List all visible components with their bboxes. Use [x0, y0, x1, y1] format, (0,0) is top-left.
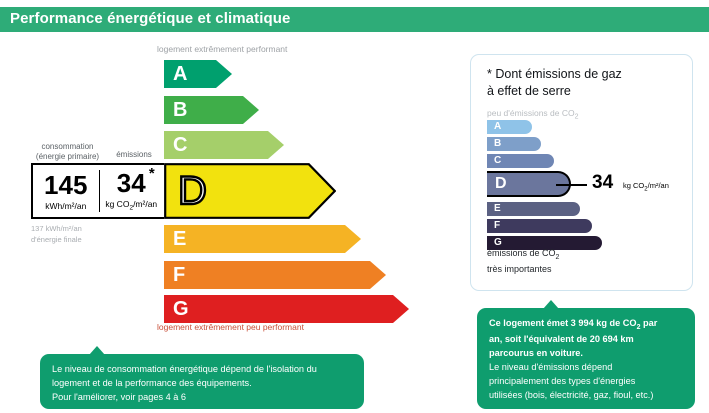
scale-caption-top: logement extrêmement performant	[157, 44, 287, 54]
callout-left-line2: logement et de la performance des équipe…	[52, 377, 352, 391]
callout-consumption-advice: Le niveau de consommation énergétique dé…	[40, 354, 364, 409]
consumption-label: consommation (énergie primaire)	[31, 142, 104, 162]
callout-right-tail	[543, 300, 559, 309]
ges-value-unit: kg CO2/m²/an	[623, 181, 669, 193]
ges-value-unit-post: /m²/an	[648, 181, 669, 190]
ges-caption-bottom-pre: émissions de CO	[487, 248, 556, 258]
ges-bar-c: C	[487, 154, 554, 168]
consumption-label-line2: (énergie primaire)	[31, 152, 104, 162]
ges-bar-a: A	[487, 120, 532, 134]
ges-bar-b: B	[487, 137, 541, 151]
ges-bar-e: E	[487, 202, 580, 216]
callout-right-line5: principalement des types d'énergies	[489, 375, 683, 389]
energy-bar-g: G	[164, 295, 409, 323]
callout-right-line1-pre: Ce logement émet 3 994 kg de CO	[489, 318, 637, 328]
ges-caption-top-sub: 2	[575, 114, 579, 121]
energy-bar-letter-c: C	[173, 135, 187, 155]
ges-title: * Dont émissions de gaz à effet de serre	[487, 66, 622, 99]
energy-bar-shape-f	[164, 261, 386, 289]
energy-bar-b: B	[164, 96, 259, 124]
energy-bar-letter-b: B	[173, 100, 187, 120]
ges-caption-bottom-line1: émissions de CO2	[487, 247, 559, 263]
final-energy-note: 137 kWh/m²/an d'énergie finale	[31, 224, 82, 246]
ges-caption-bottom: émissions de CO2 très importantes	[487, 247, 559, 276]
ges-bar-f: F	[487, 219, 592, 233]
energy-bar-letter-d: D	[178, 171, 207, 211]
final-energy-line2: d'énergie finale	[31, 235, 82, 246]
energy-bar-letter-a: A	[173, 64, 187, 84]
ges-bar-letter-c: C	[494, 156, 501, 166]
callout-right-line1-post: par	[640, 318, 657, 328]
callout-left-line1: Le niveau de consommation énergétique dé…	[52, 363, 352, 377]
primary-energy-unit: kWh/m²/an	[45, 201, 86, 211]
page-title: Performance énergétique et climatique	[10, 10, 290, 27]
energy-bar-letter-f: F	[173, 265, 185, 285]
callout-right-line1: Ce logement émet 3 994 kg de CO2 par	[489, 317, 683, 333]
energy-bar-shape-e	[164, 225, 361, 253]
ges-leader-line	[556, 184, 587, 186]
callout-emissions-info: Ce logement émet 3 994 kg de CO2 par an,…	[477, 308, 695, 409]
ges-caption-top-text: peu d'émissions de CO	[487, 108, 575, 118]
callout-left-line3: Pour l'améliorer, voir pages 4 à 6	[52, 391, 352, 405]
energy-bar-shape-g	[164, 295, 409, 323]
emission-asterisk: *	[149, 166, 155, 181]
emission-value-cell: 34* kg CO2/m²/an	[99, 165, 165, 217]
ges-caption-bottom-line2: très importantes	[487, 263, 559, 276]
emission-value-number: 34	[117, 168, 146, 198]
callout-right-line6: utilisées (bois, électricité, gaz, fioul…	[489, 389, 683, 403]
ges-caption-bottom-sub: 2	[556, 254, 560, 261]
callout-right-line3: parcourus en voiture.	[489, 347, 683, 361]
ges-value: 34	[592, 173, 613, 192]
ges-caption-top: peu d'émissions de CO2	[487, 108, 579, 121]
ges-bar-letter-f: F	[494, 221, 500, 231]
emissions-label: émissions	[104, 150, 164, 159]
ges-bar-letter-b: B	[494, 139, 501, 149]
energy-bar-letter-e: E	[173, 229, 186, 249]
ges-bar-letter-d: D	[495, 176, 507, 192]
final-energy-line1: 137 kWh/m²/an	[31, 224, 82, 235]
scale-caption-bottom: logement extrêmement peu performant	[157, 322, 304, 332]
ges-value-unit-pre: kg CO	[623, 181, 644, 190]
ges-bar-letter-e: E	[494, 204, 501, 214]
energy-bar-letter-g: G	[173, 299, 189, 319]
energy-bar-a: A	[164, 60, 232, 88]
energy-bar-e: E	[164, 225, 361, 253]
primary-energy-cell: 145 kWh/m²/an	[33, 165, 99, 217]
ges-title-line2: à effet de serre	[487, 83, 622, 100]
energy-bar-f: F	[164, 261, 386, 289]
energy-bar-d: D	[164, 163, 336, 219]
energy-bar-c: C	[164, 131, 284, 159]
consumption-label-line1: consommation	[31, 142, 104, 152]
dpe-energy-label: Performance énergétique et climatique lo…	[0, 0, 709, 413]
emission-unit: kg CO2/m²/an	[105, 199, 157, 212]
callout-right-line4: Le niveau d'émissions dépend	[489, 361, 683, 375]
callout-left-tail	[89, 346, 105, 355]
emission-unit-pre: kg CO	[105, 199, 129, 209]
callout-right-line2: an, soit l'équivalent de 20 694 km	[489, 333, 683, 347]
primary-energy-value: 145	[44, 172, 87, 198]
consumption-value-box: 145 kWh/m²/an 34* kg CO2/m²/an	[31, 163, 164, 219]
ges-title-line1: * Dont émissions de gaz	[487, 66, 622, 83]
emission-unit-post: /m²/an	[133, 199, 157, 209]
emission-value: 34*	[117, 170, 146, 196]
ges-bar-letter-a: A	[494, 122, 501, 132]
